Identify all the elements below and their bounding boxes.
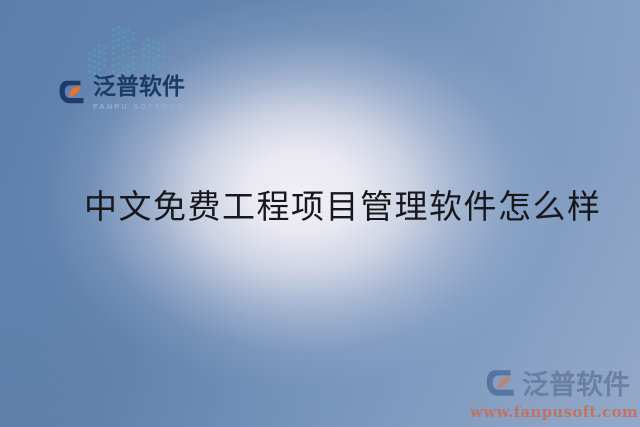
slide-canvas: 泛普软件 FANPU SOFTWARE 中文免费工程项目管理软件怎么样 泛普软件… [0, 0, 640, 427]
watermark-url: www.fanpusoft.com [470, 403, 630, 421]
page-title: 中文免费工程项目管理软件怎么样 [84, 186, 602, 227]
brand-name-en: FANPU SOFTWARE [93, 103, 192, 111]
fanpu-logo-mark-icon [58, 77, 88, 107]
watermark: 泛普软件 www.fanpusoft.com [470, 363, 630, 421]
watermark-name-cn: 泛普软件 [522, 363, 630, 402]
fanpu-logo-mark-icon [485, 366, 519, 400]
brand-text-block: 泛普软件 FANPU SOFTWARE [93, 76, 192, 111]
brand-logo: 泛普软件 FANPU SOFTWARE [58, 76, 192, 111]
brand-name-cn: 泛普软件 [93, 76, 192, 99]
watermark-logo-row: 泛普软件 [470, 363, 630, 402]
